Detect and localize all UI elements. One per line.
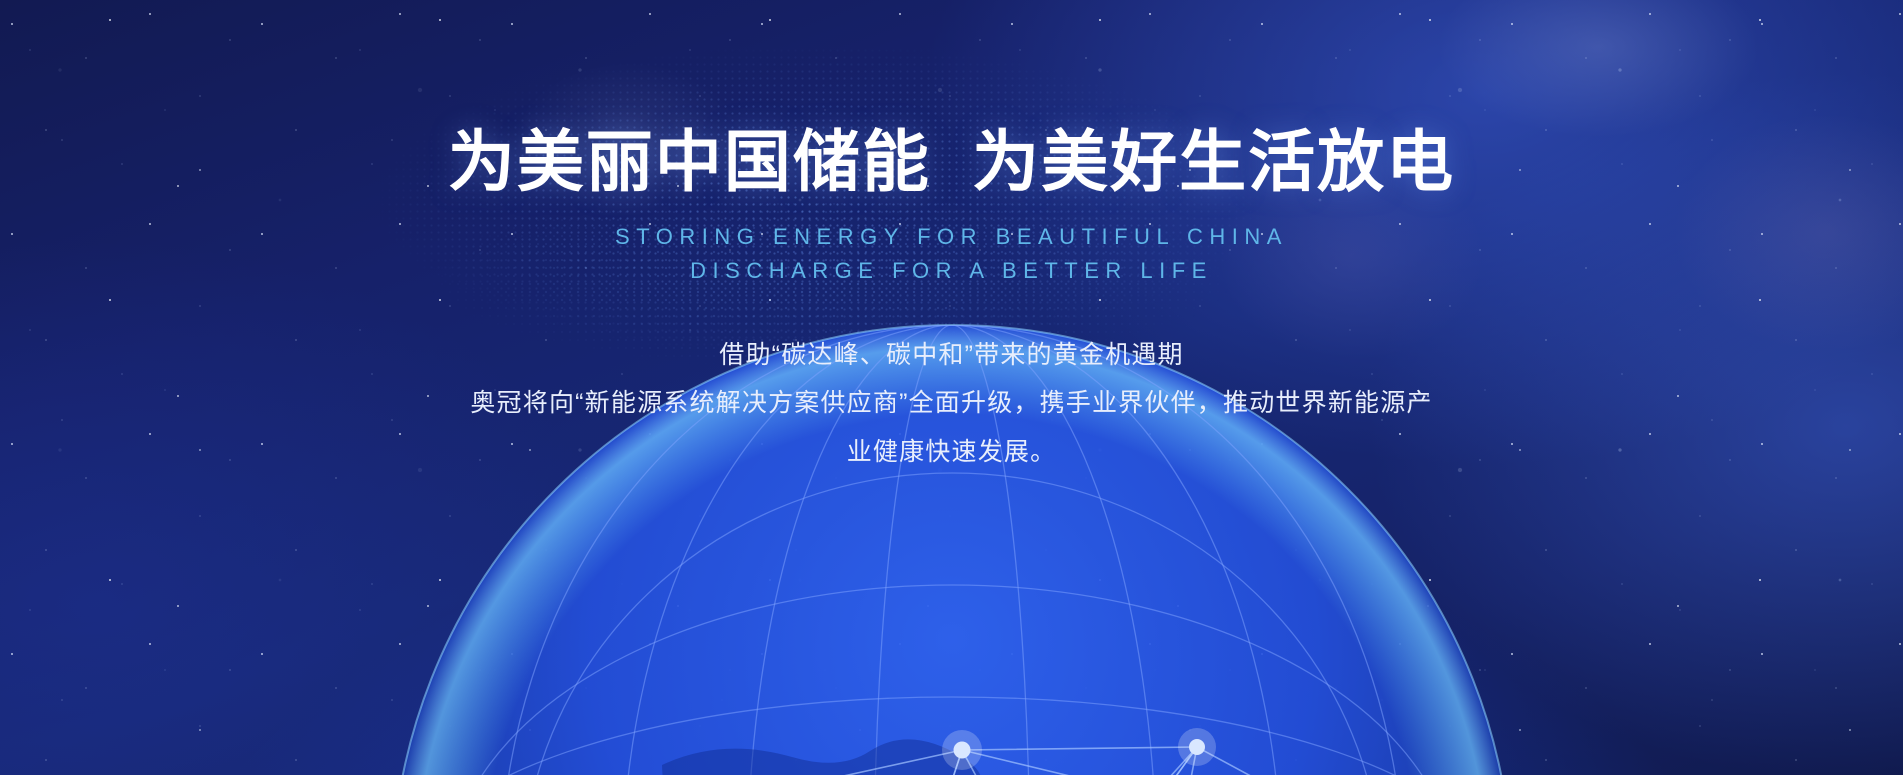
page-title: 为美丽中国储能 为美好生活放电 xyxy=(0,0,1903,198)
body-line-1: 借助“碳达峰、碳中和”带来的黄金机遇期 xyxy=(0,331,1903,380)
hero-banner: 为美丽中国储能 为美好生活放电 STORING ENERGY FOR BEAUT… xyxy=(0,0,1903,775)
english-subtitle-line-1: STORING ENERGY FOR BEAUTIFUL CHINA xyxy=(0,220,1903,254)
body-line-3: 业健康快速发展。 xyxy=(0,428,1903,477)
body-line-2: 奥冠将向“新能源系统解决方案供应商”全面升级，携手业界伙伴，推动世界新能源产 xyxy=(0,379,1903,428)
english-subtitle-line-2: DISCHARGE FOR A BETTER LIFE xyxy=(0,254,1903,288)
english-subtitle: STORING ENERGY FOR BEAUTIFUL CHINA DISCH… xyxy=(0,198,1903,288)
banner-content: 为美丽中国储能 为美好生活放电 STORING ENERGY FOR BEAUT… xyxy=(0,0,1903,477)
body-paragraph: 借助“碳达峰、碳中和”带来的黄金机遇期 奥冠将向“新能源系统解决方案供应商”全面… xyxy=(0,289,1903,477)
